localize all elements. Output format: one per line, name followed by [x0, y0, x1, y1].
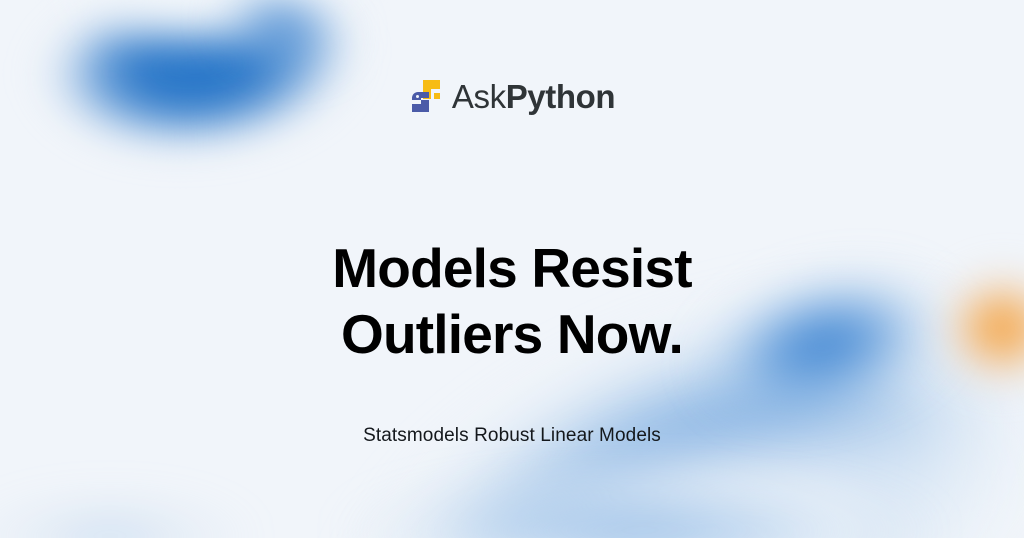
card-content: AskPython Models Resist Outliers Now. St…: [0, 0, 1024, 538]
headline: Models Resist Outliers Now.: [0, 235, 1024, 368]
headline-line-1: Models Resist: [0, 235, 1024, 302]
headline-line-2: Outliers Now.: [0, 301, 1024, 368]
askpython-logo-icon: [409, 78, 443, 114]
brand-lockup: AskPython: [0, 78, 1024, 114]
wordmark-ask: Ask: [452, 78, 506, 115]
social-card-canvas: AskPython Models Resist Outliers Now. St…: [0, 0, 1024, 538]
wordmark-python: Python: [506, 78, 615, 115]
brand-wordmark: AskPython: [452, 80, 615, 113]
subtitle: Statsmodels Robust Linear Models: [0, 425, 1024, 447]
